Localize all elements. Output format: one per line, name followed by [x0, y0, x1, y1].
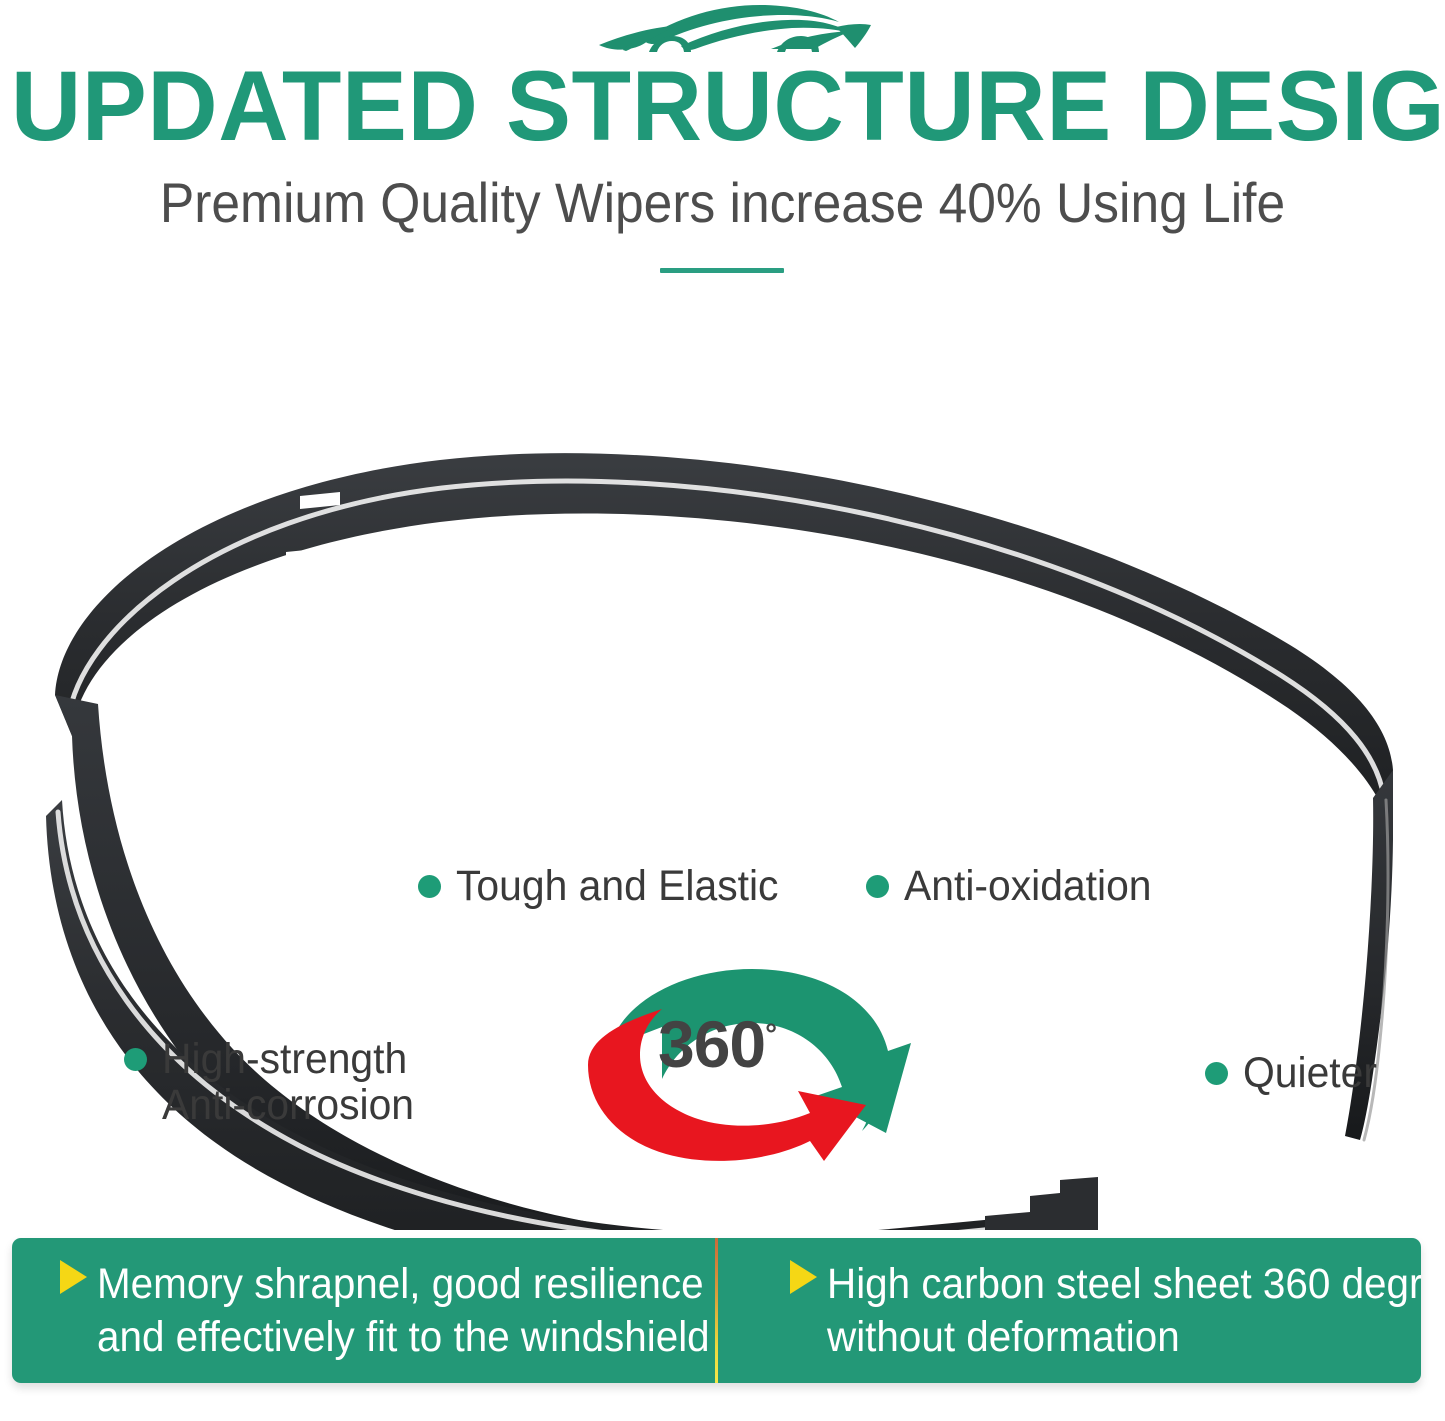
rotation-360-badge: 360°	[566, 955, 918, 1167]
badge-value: 360	[658, 1007, 765, 1081]
bullet-dot-icon	[866, 875, 889, 898]
feature-text: Tough and Elastic	[456, 863, 778, 909]
rotation-360-label: 360°	[658, 1011, 776, 1077]
banner-divider	[715, 1238, 718, 1383]
feature-text-line1: High-strength	[162, 1035, 407, 1083]
feature-label-quieter: Quieter	[1205, 1050, 1384, 1096]
banner-panel-memory-shrapnel: Memory shrapnel, good resilienceand effe…	[12, 1238, 715, 1383]
banner-text-line2: without deformation	[827, 1311, 1421, 1364]
banner-text: High carbon steel sheet 360 degreeswitho…	[827, 1258, 1421, 1364]
banner-text-line1: Memory shrapnel, good resilience	[97, 1260, 704, 1308]
banner-text-line1: High carbon steel sheet 360 degrees	[827, 1260, 1421, 1308]
bullet-dot-icon	[1205, 1062, 1228, 1085]
page-title: UPDATED STRUCTURE DESIGN	[11, 56, 1434, 156]
bullet-dot-icon	[418, 875, 441, 898]
feature-label-anti-oxidation: Anti-oxidation	[866, 863, 1165, 909]
triangle-arrow-icon	[60, 1260, 87, 1294]
feature-text: High-strengthAnti-corrosion	[162, 1036, 414, 1128]
feature-text-line2: Anti-corrosion	[162, 1082, 414, 1128]
banner-text-line2: and effectively fit to the windshield	[97, 1311, 710, 1364]
triangle-arrow-icon	[790, 1260, 817, 1294]
feature-text: Quieter	[1243, 1050, 1377, 1096]
degree-symbol: °	[765, 1018, 776, 1051]
banner-text: Memory shrapnel, good resilienceand effe…	[97, 1258, 710, 1364]
banner-panel-high-carbon-steel: High carbon steel sheet 360 degreeswitho…	[715, 1238, 1421, 1383]
header-section: UPDATED STRUCTURE DESIGN Premium Quality…	[0, 0, 1445, 300]
feature-text: Anti-oxidation	[904, 863, 1152, 909]
title-divider	[660, 268, 784, 273]
product-hero-section: Tough and Elastic Anti-oxidation High-st…	[0, 300, 1445, 1230]
bullet-dot-icon	[124, 1048, 147, 1071]
page-subtitle: Premium Quality Wipers increase 40% Usin…	[58, 172, 1387, 234]
feature-label-high-strength: High-strengthAnti-corrosion	[124, 1036, 427, 1128]
feature-label-tough-and-elastic: Tough and Elastic	[418, 863, 795, 909]
